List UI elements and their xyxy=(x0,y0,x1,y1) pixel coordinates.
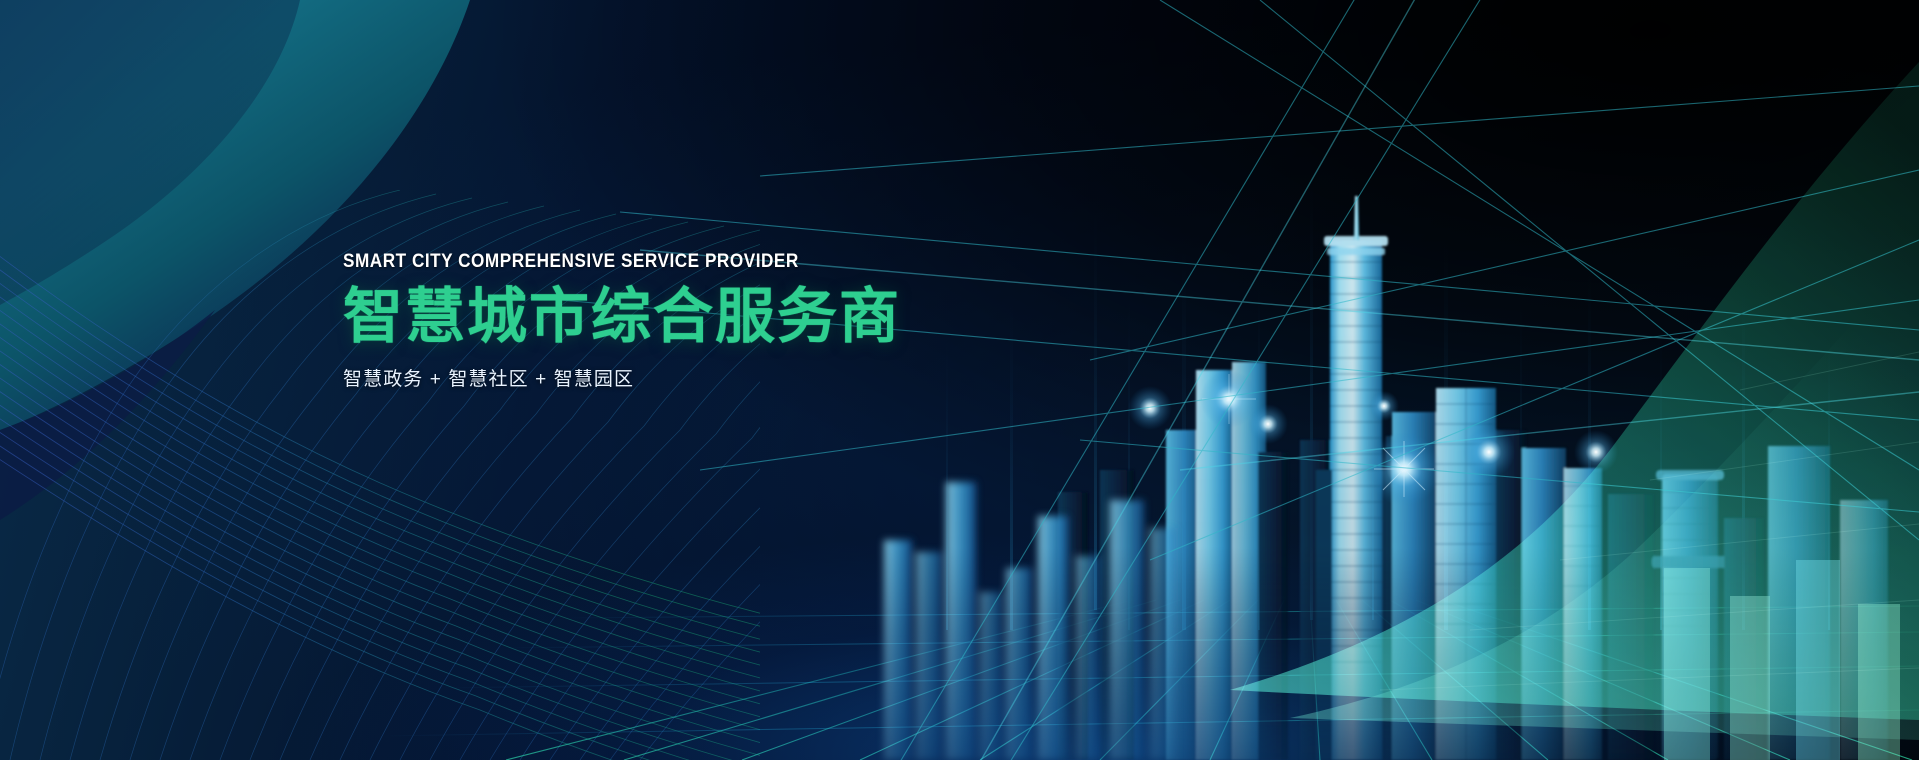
page-title: 智慧城市综合服务商 xyxy=(343,285,1063,349)
subtitle-text: 智慧政务 + 智慧社区 + 智慧园区 xyxy=(343,364,1063,391)
eyebrow-text: SMART CITY COMPREHENSIVE SERVICE PROVIDE… xyxy=(343,252,977,272)
smart-city-hero-banner: SMART CITY COMPREHENSIVE SERVICE PROVIDE… xyxy=(0,0,1919,760)
hero-copy-block: SMART CITY COMPREHENSIVE SERVICE PROVIDE… xyxy=(343,252,1063,391)
translucent-blocks xyxy=(1664,560,1900,760)
lens-flares xyxy=(1128,370,1618,506)
foreground-bars xyxy=(884,482,1176,760)
